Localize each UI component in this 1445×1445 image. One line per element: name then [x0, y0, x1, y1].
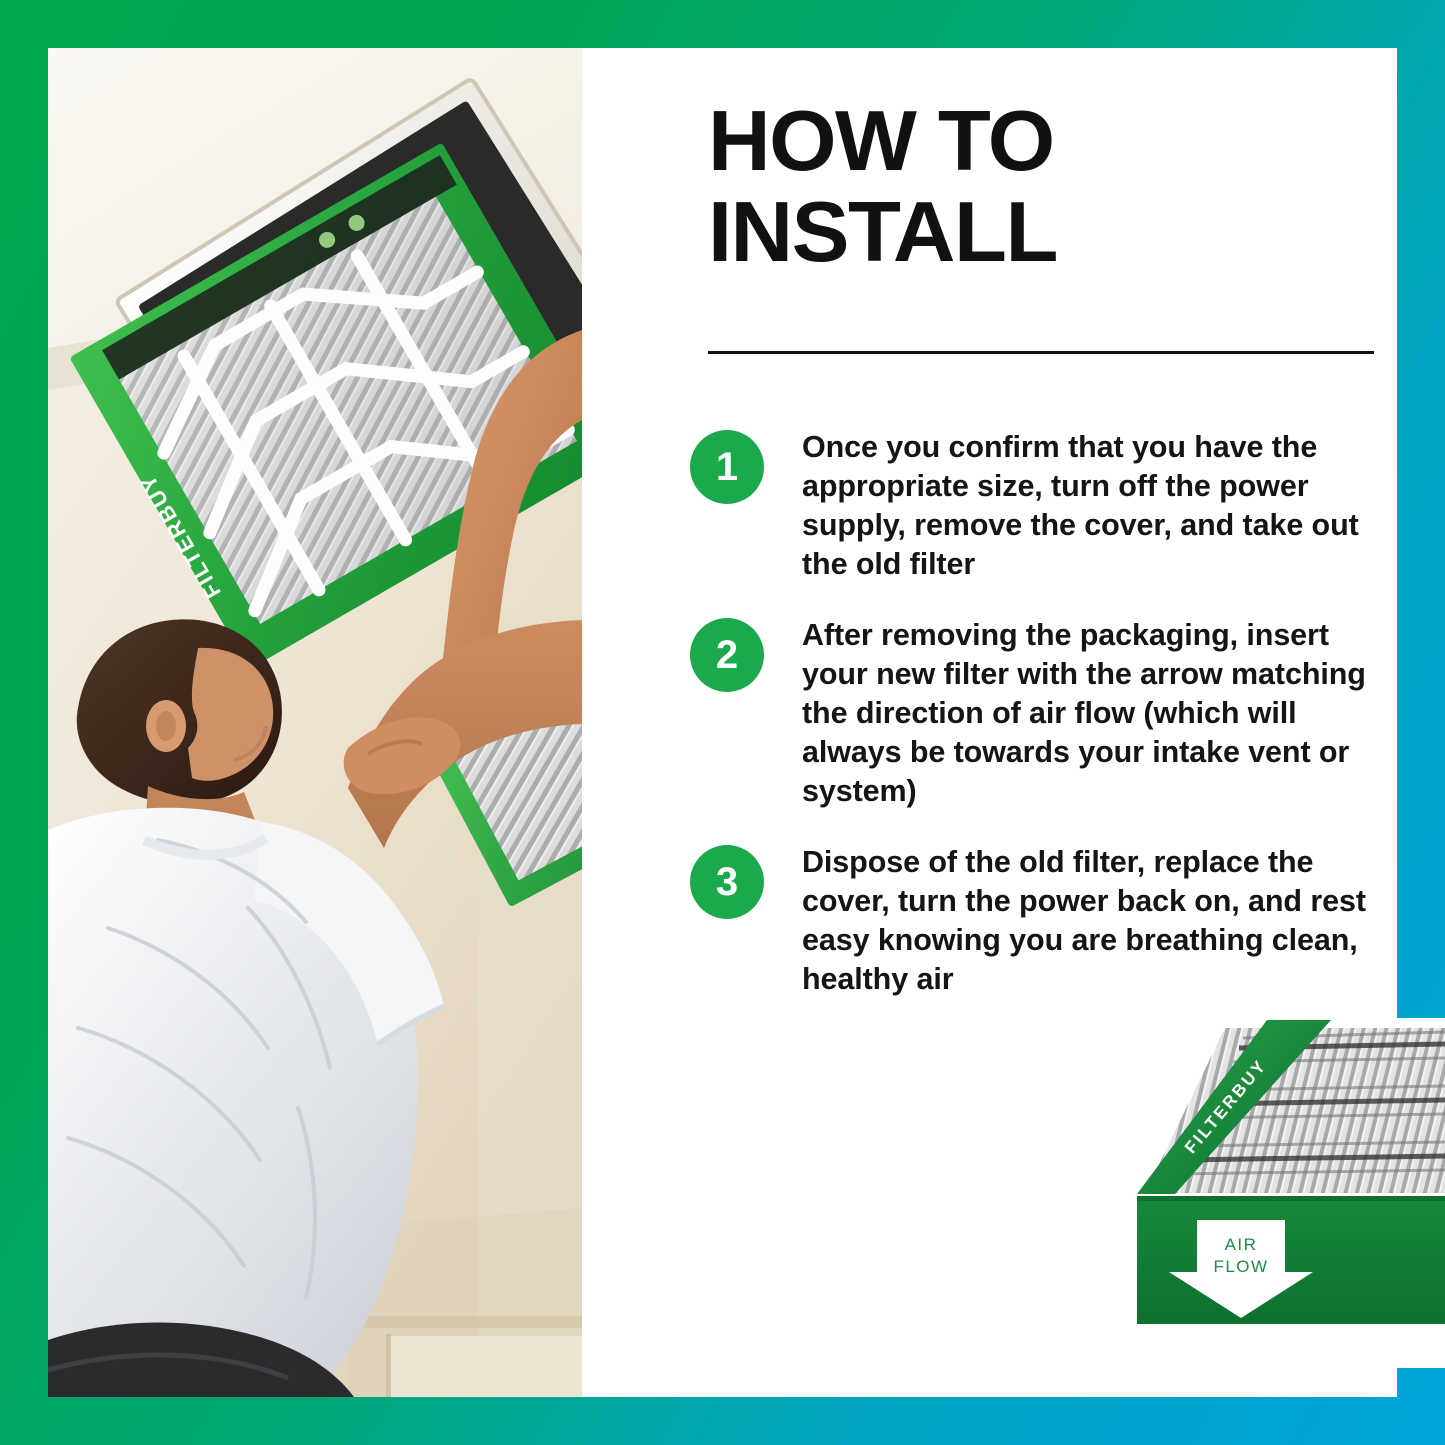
title-divider [708, 351, 1374, 354]
step-text-2: After removing the packaging, insert you… [802, 616, 1382, 811]
instructions-panel: HOW TO INSTALL 1 Once you confirm that y… [582, 48, 1397, 1397]
step-number-badge-2: 2 [690, 618, 764, 692]
step-item-3: 3 Dispose of the old filter, replace the… [690, 843, 1390, 999]
step-number-badge-1: 1 [690, 430, 764, 504]
step-item-2: 2 After removing the packaging, insert y… [690, 616, 1390, 811]
page-title: HOW TO INSTALL [708, 102, 1397, 274]
step-text-3: Dispose of the old filter, replace the c… [802, 843, 1382, 999]
step-item-1: 1 Once you confirm that you have the app… [690, 428, 1390, 584]
step-number-badge-3: 3 [690, 845, 764, 919]
steps-list: 1 Once you confirm that you have the app… [690, 428, 1390, 1031]
gradient-frame: Man in a white t-shirt reaching up to in… [0, 0, 1445, 1445]
title-line-2: INSTALL [708, 193, 1397, 274]
photo-illustration: FILTERBUY [48, 48, 582, 1397]
title-line-1: HOW TO [708, 102, 1397, 183]
step-text-1: Once you confirm that you have the appro… [802, 428, 1382, 584]
installation-photo: Man in a white t-shirt reaching up to in… [48, 48, 582, 1397]
content-card: Man in a white t-shirt reaching up to in… [48, 48, 1397, 1397]
